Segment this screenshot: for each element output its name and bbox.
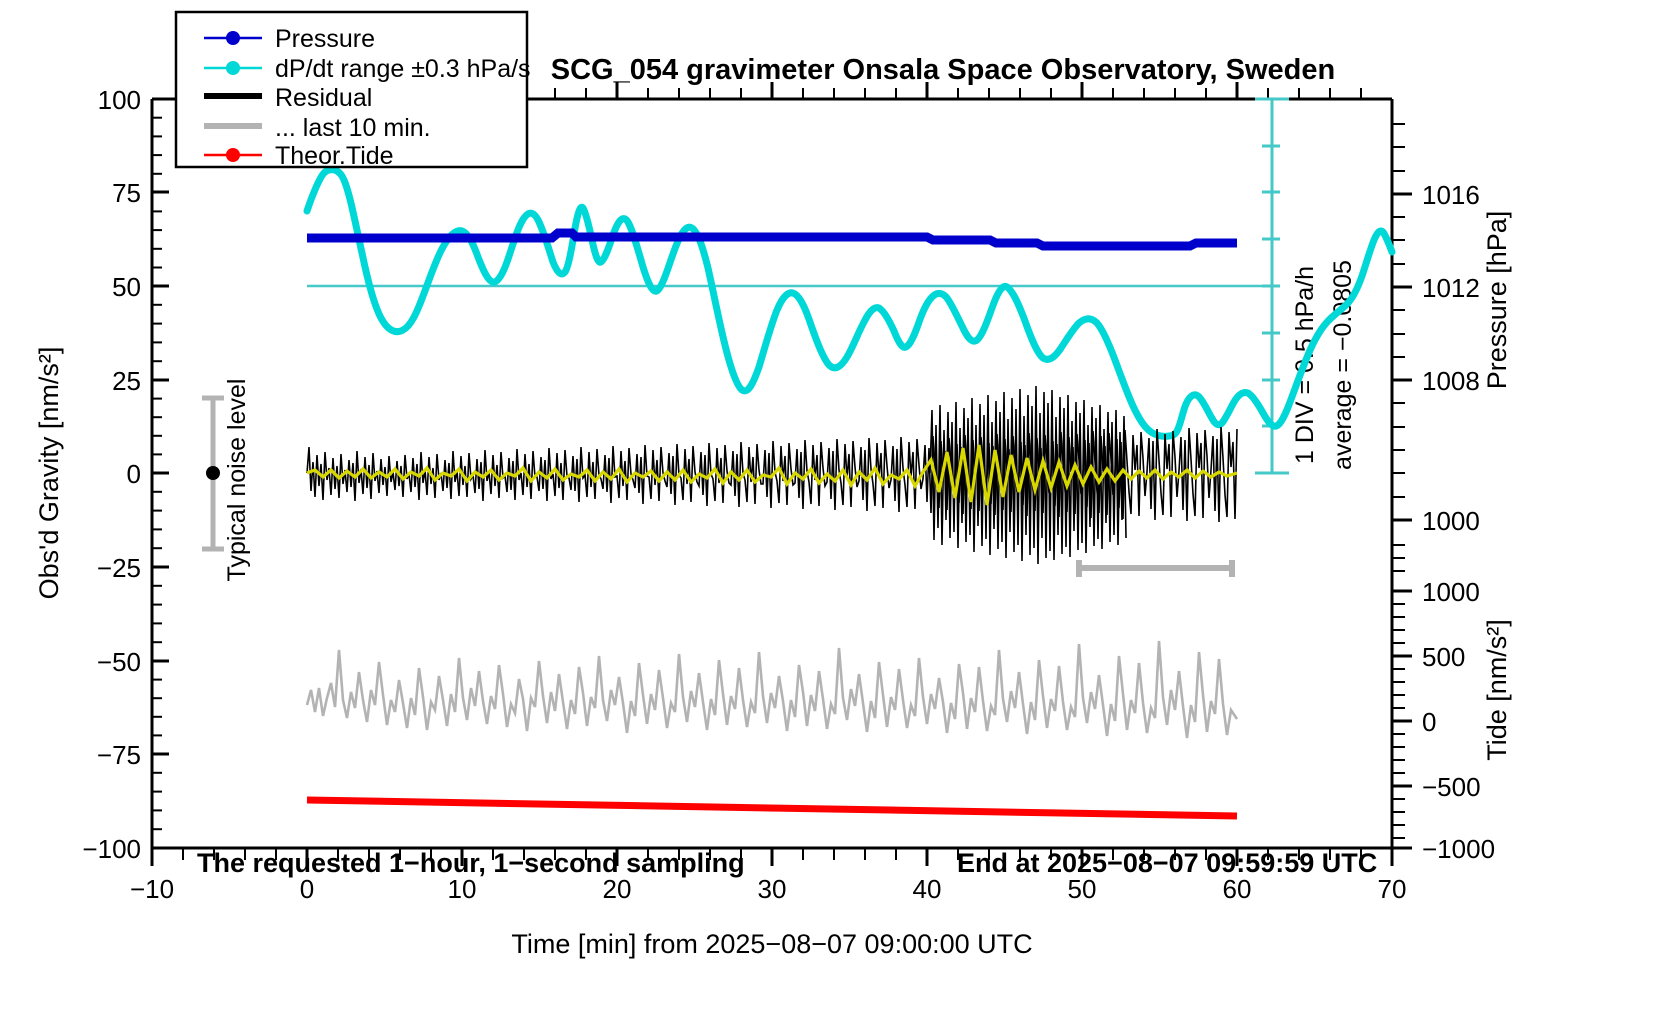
tide-tick-label-0: 1000 [1422,577,1480,607]
right-pressure-axis-title: Pressure [hPa] [1482,211,1512,390]
bottom-tick-label-0: −10 [130,874,174,904]
left-tick-label-2: 50 [112,272,141,302]
left-tick-label-7: −75 [97,740,141,770]
bottom-tick-label-7: 60 [1223,874,1252,904]
bottom-tick-label-4: 30 [758,874,787,904]
tide-tick-label-3: −500 [1422,772,1481,802]
left-tick-label-4: 0 [127,459,141,489]
legend-label-residual: Residual [275,84,372,112]
legend-marker-dpdt [226,61,240,75]
pressure-tick-label-1: 1012 [1422,273,1480,303]
bottom-left-annotation: The requested 1−hour, 1−second sampling [197,848,745,878]
pressure-tick-label-2: 1008 [1422,366,1480,396]
left-tick-label-6: −50 [97,647,141,677]
pressure-tick-label-3: 1000 [1422,506,1480,536]
bottom-tick-label-5: 40 [913,874,942,904]
left-tick-label-1: 75 [112,178,141,208]
legend-marker-pressure [226,31,240,45]
tide-tick-label-4: −1000 [1422,834,1495,864]
page-title: SCG_054 gravimeter Onsala Space Observat… [551,54,1335,86]
bottom-axis-title: Time [min] from 2025−08−07 09:00:00 UTC [511,929,1032,959]
bottom-tick-label-2: 10 [448,874,477,904]
gravimeter-plot-page: 100 75 50 25 0 −25 −50 −75 −100 Obs'd Gr… [0,0,1676,1020]
pressure-tick-label-0: 1016 [1422,180,1480,210]
typical-noise-level-label: Typical noise level [223,379,251,582]
plot-svg: 100 75 50 25 0 −25 −50 −75 −100 Obs'd Gr… [0,0,1676,1020]
legend: Pressure dP/dt range ±0.3 hPa/s Residual… [176,12,531,170]
legend-label-tide: Theor.Tide [275,142,394,170]
noise-center-dot [206,466,220,480]
left-tick-label-8: −100 [82,834,141,864]
legend-label-dpdt: dP/dt range ±0.3 hPa/s [275,55,531,83]
bottom-tick-label-8: 70 [1378,874,1407,904]
legend-label-last10: ... last 10 min. [275,114,431,142]
tide-tick-label-1: 500 [1422,642,1465,672]
right-tide-axis-title: Tide [nm/s²] [1482,619,1512,761]
legend-label-pressure: Pressure [275,25,375,53]
left-tick-label-5: −25 [97,553,141,583]
bottom-tick-label-3: 20 [603,874,632,904]
legend-marker-tide [226,148,240,162]
tide-tick-label-2: 0 [1422,707,1436,737]
bottom-tick-label-6: 50 [1068,874,1097,904]
left-tick-label-0: 100 [98,85,141,115]
left-tick-label-3: 25 [112,366,141,396]
left-axis-title: Obs'd Gravity [nm/s²] [34,347,64,600]
bottom-tick-label-1: 0 [300,874,314,904]
bottom-right-annotation: End at 2025−08−07 09:59:59 UTC [957,848,1377,878]
